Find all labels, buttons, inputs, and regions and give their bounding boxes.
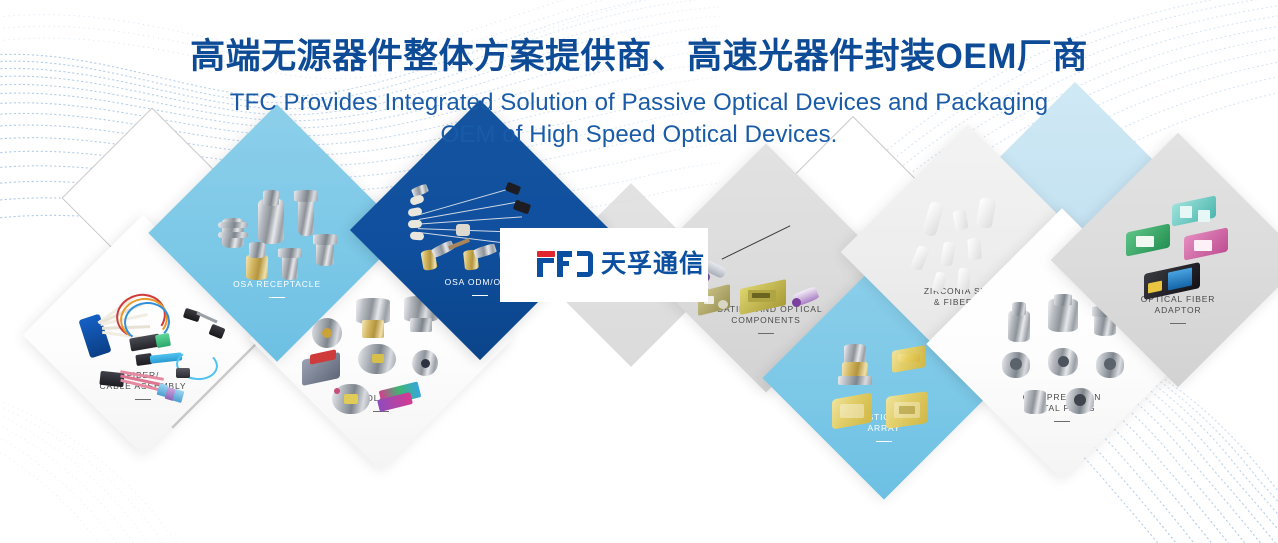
page-title: 高端无源器件整体方案提供商、高速光器件封装OEM厂商 <box>0 36 1278 77</box>
tile-label-cnc-precision-metal-parts: CNC PRECISION METAL PARTS <box>1023 392 1102 415</box>
tile-rule <box>1054 421 1070 423</box>
page-subtitle-line-1: TFC Provides Integrated Solution of Pass… <box>0 87 1278 119</box>
page-subtitle-line-2: OEM of High Speed Optical Devices. <box>0 119 1278 151</box>
tfc-logo[interactable]: 天孚通信 <box>536 251 705 277</box>
logo-chinese-name: 天孚通信 <box>601 252 705 277</box>
tile-label-optical-fiber-adaptor: OPTICAL FIBER ADAPTOR <box>1141 294 1216 317</box>
tile-label-osa-receptacle: OSA RECEPTACLE <box>233 279 321 290</box>
tfc-logo-mark <box>536 251 594 277</box>
logo-letter-f-mid <box>557 261 569 266</box>
logo-red-accent <box>537 251 555 257</box>
product-diamond-mosaic: FIBER/ CABLE ASSEMBLY <box>0 150 1278 543</box>
logo-letter-f-top <box>557 251 572 257</box>
tile-rule <box>373 411 389 413</box>
tile-rule <box>135 399 151 401</box>
tile-label-coating-optical-components: COATING AND OPTICAL COMPONENTS <box>710 304 823 327</box>
tile-rule <box>876 441 892 443</box>
tile-rule <box>1170 323 1186 325</box>
logo-letter-c <box>577 251 593 277</box>
tile-label-plastic-lens-array: PLASTIC LENS ARRAY <box>849 412 919 435</box>
banner-root: 高端无源器件整体方案提供商、高速光器件封装OEM厂商 TFC Provides … <box>0 0 1278 543</box>
headline-block: 高端无源器件整体方案提供商、高速光器件封装OEM厂商 TFC Provides … <box>0 36 1278 151</box>
tile-rule <box>269 297 285 299</box>
tile-rule <box>472 295 488 297</box>
tile-label-isolator: ISOLATOR <box>357 393 406 404</box>
tile-rule <box>758 333 774 335</box>
logo-letter-t-bar <box>537 258 554 263</box>
tile-label-fiber-cable-assembly: FIBER/ CABLE ASSEMBLY <box>100 370 187 393</box>
